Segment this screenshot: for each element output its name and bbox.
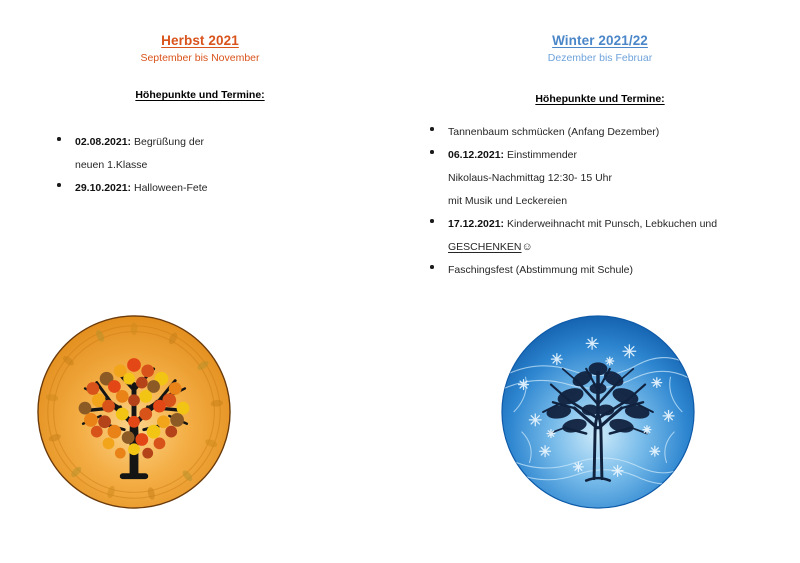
bullet-dot-icon	[430, 127, 434, 131]
bullet-dot-icon	[57, 137, 61, 141]
list-item-line: 17.12.2021: Kinderweihnacht mit Punsch, …	[448, 213, 788, 236]
events-list-herbst: 02.08.2021: Begrüßung der neuen 1.Klasse…	[55, 131, 385, 200]
event-text: Faschingsfest (Abstimmung mit Schule)	[448, 264, 633, 276]
season-title-winter-text: Winter 2021/22	[552, 33, 648, 48]
seasons-handout-page: Herbst 2021 September bis November Höhep…	[0, 0, 800, 563]
event-date: 02.08.2021:	[75, 136, 131, 148]
season-title-herbst: Herbst 2021	[0, 33, 400, 48]
event-text: Tannenbaum schmücken (Anfang Dezember)	[448, 126, 659, 138]
list-item: Tannenbaum schmücken (Anfang Dezember)	[428, 121, 788, 144]
event-date: 29.10.2021:	[75, 182, 131, 194]
list-item-line: GESCHENKEN☺	[448, 236, 788, 259]
bullet-dot-icon	[430, 265, 434, 269]
list-item-line: 02.08.2021: Begrüßung der	[75, 131, 385, 154]
event-date: 17.12.2021:	[448, 218, 504, 230]
highlights-heading-winter: Höhepunkte und Termine:	[400, 93, 800, 105]
list-item-line: 06.12.2021: Einstimmender	[448, 144, 788, 167]
winter-tree-circle-image	[500, 314, 696, 510]
season-column-herbst: Herbst 2021 September bis November Höhep…	[0, 0, 400, 563]
list-item: 29.10.2021: Halloween-Fete	[55, 177, 385, 200]
season-title-winter: Winter 2021/22	[400, 33, 800, 48]
event-text: neuen 1.Klasse	[75, 159, 147, 171]
smiley-face-icon: ☺	[522, 241, 533, 253]
event-text: Einstimmender	[504, 149, 577, 161]
season-title-herbst-text: Herbst 2021	[161, 33, 239, 48]
event-date: 06.12.2021:	[448, 149, 504, 161]
list-item: 17.12.2021: Kinderweihnacht mit Punsch, …	[428, 213, 788, 259]
list-item-line: mit Musik und Leckereien	[448, 190, 788, 213]
bullet-dot-icon	[430, 219, 434, 223]
list-item-line: 29.10.2021: Halloween-Fete	[75, 177, 385, 200]
list-item: Faschingsfest (Abstimmung mit Schule)	[428, 259, 788, 282]
highlights-heading-herbst: Höhepunkte und Termine:	[0, 89, 400, 101]
events-list-winter: Tannenbaum schmücken (Anfang Dezember) 0…	[428, 121, 788, 282]
list-item: 02.08.2021: Begrüßung der neuen 1.Klasse	[55, 131, 385, 177]
list-item-line: neuen 1.Klasse	[75, 154, 385, 177]
event-text: mit Musik und Leckereien	[448, 195, 567, 207]
list-item-line: Tannenbaum schmücken (Anfang Dezember)	[448, 121, 788, 144]
event-text: Begrüßung der	[131, 136, 204, 148]
season-subtitle-winter: Dezember bis Februar	[400, 52, 800, 64]
event-emphasis: GESCHENKEN	[448, 241, 522, 253]
bullet-dot-icon	[430, 150, 434, 154]
season-subtitle-herbst: September bis November	[0, 52, 400, 64]
list-item: 06.12.2021: Einstimmender Nikolaus-Nachm…	[428, 144, 788, 213]
season-column-winter: Winter 2021/22 Dezember bis Februar Höhe…	[400, 0, 800, 563]
list-item-line: Faschingsfest (Abstimmung mit Schule)	[448, 259, 788, 282]
event-text: Nikolaus-Nachmittag 12:30- 15 Uhr	[448, 172, 612, 184]
event-text: Halloween-Fete	[131, 182, 207, 194]
bullet-dot-icon	[57, 183, 61, 187]
event-text: Kinderweihnacht mit Punsch, Lebkuchen un…	[504, 218, 717, 230]
autumn-tree-circle-image	[36, 314, 232, 510]
list-item-line: Nikolaus-Nachmittag 12:30- 15 Uhr	[448, 167, 788, 190]
